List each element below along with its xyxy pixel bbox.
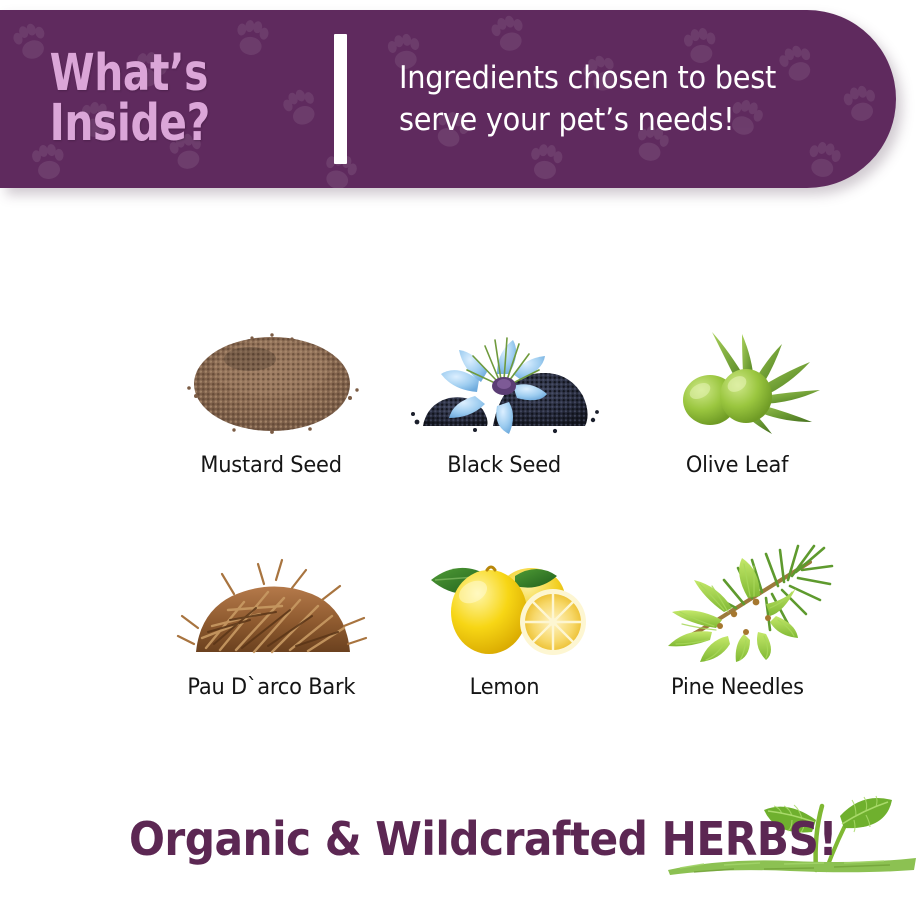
banner-divider <box>334 34 347 164</box>
ingredient-grid: Mustard Seed <box>155 318 855 700</box>
ingredient-label: Mustard Seed <box>201 452 343 478</box>
ingredient-label: Pau D`arco Bark <box>187 674 355 700</box>
ingredient-item-pine-needles: Pine Needles <box>621 540 854 700</box>
ingredient-row: Pau D`arco Bark <box>155 540 855 700</box>
mustard-seed-icon <box>172 318 372 440</box>
banner-background: What’s Inside? Ingredients chosen to bes… <box>0 10 896 188</box>
ingredient-item-mustard-seed: Mustard Seed <box>155 318 388 478</box>
banner-headline: What’s Inside? <box>0 49 240 149</box>
ingredient-label: Olive Leaf <box>686 452 789 478</box>
ingredient-item-pau-darco-bark: Pau D`arco Bark <box>155 540 388 700</box>
banner-subhead: Ingredients chosen to best serve your pe… <box>399 57 776 141</box>
banner-headline-line2: Inside? <box>50 99 240 149</box>
banner-subhead-line1: Ingredients chosen to best <box>399 57 776 99</box>
footer: Organic & Wildcrafted HERBS! <box>0 786 922 882</box>
pau-darco-bark-icon <box>172 540 372 662</box>
banner-subhead-line2: serve your pet’s needs! <box>399 99 776 141</box>
olive-leaf-icon <box>638 318 838 440</box>
lemon-icon <box>405 540 605 662</box>
ingredient-item-lemon: Lemon <box>388 540 621 700</box>
black-seed-icon <box>405 318 605 440</box>
ingredient-label: Pine Needles <box>671 674 804 700</box>
pine-needles-icon <box>638 540 838 662</box>
ingredient-item-olive-leaf: Olive Leaf <box>621 318 854 478</box>
footer-tagline: Organic & Wildcrafted HERBS! <box>129 812 837 866</box>
ingredient-label: Lemon <box>470 674 540 700</box>
header-banner: What’s Inside? Ingredients chosen to bes… <box>0 10 896 188</box>
ingredient-row: Mustard Seed <box>155 318 855 478</box>
ingredient-label: Black Seed <box>448 452 562 478</box>
ingredient-item-black-seed: Black Seed <box>388 318 621 478</box>
